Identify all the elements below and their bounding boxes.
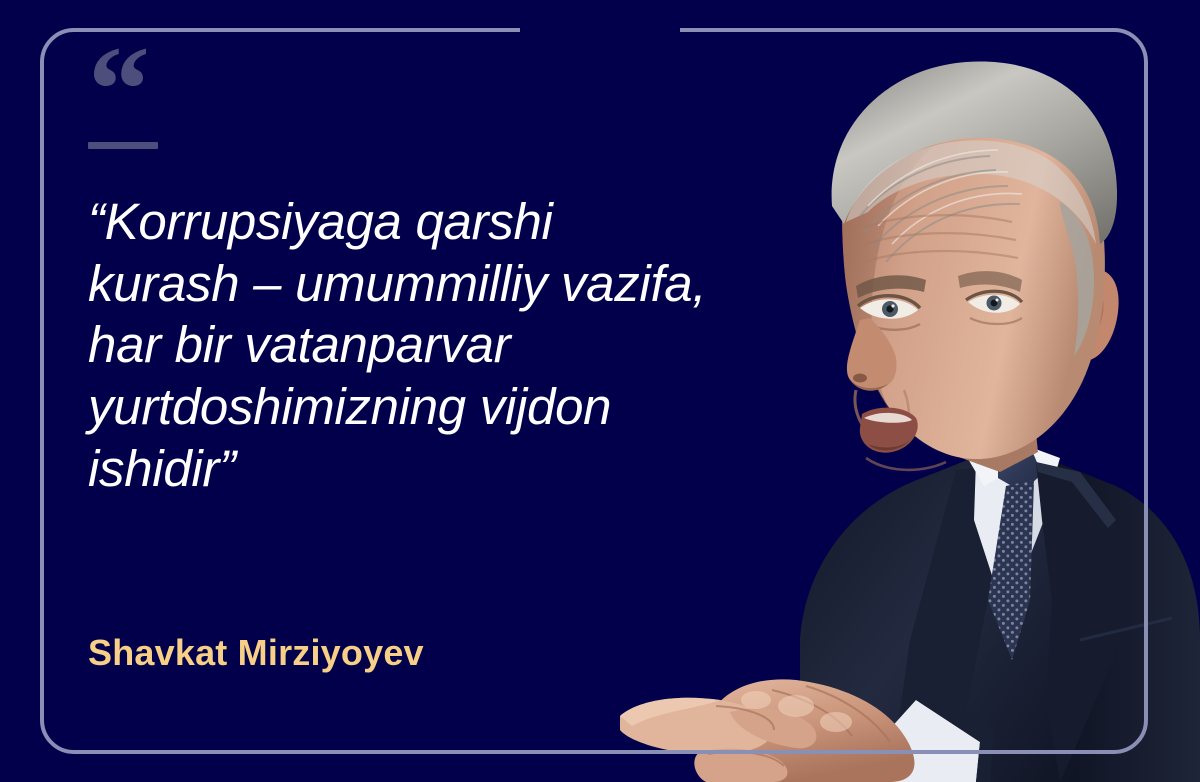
quote-text: “Korrupsiyaga qarshi kurash – umummilliy… bbox=[88, 191, 828, 500]
portrait-neck bbox=[932, 374, 1038, 472]
quotation-mark-icon: “ bbox=[88, 52, 848, 118]
portrait-hand bbox=[620, 679, 994, 782]
quote-block: “ “Korrupsiyaga qarshi kurash – umummill… bbox=[88, 52, 848, 500]
decorative-frame-gap bbox=[520, 20, 680, 38]
portrait-head bbox=[832, 61, 1119, 469]
author-name: Shavkat Mirziyoyev bbox=[88, 632, 424, 674]
portrait-eye-right bbox=[966, 291, 1022, 313]
portrait-eye-left bbox=[858, 296, 920, 319]
portrait-suit bbox=[800, 444, 1200, 782]
quote-card: “ “Korrupsiyaga qarshi kurash – umummill… bbox=[0, 0, 1200, 782]
